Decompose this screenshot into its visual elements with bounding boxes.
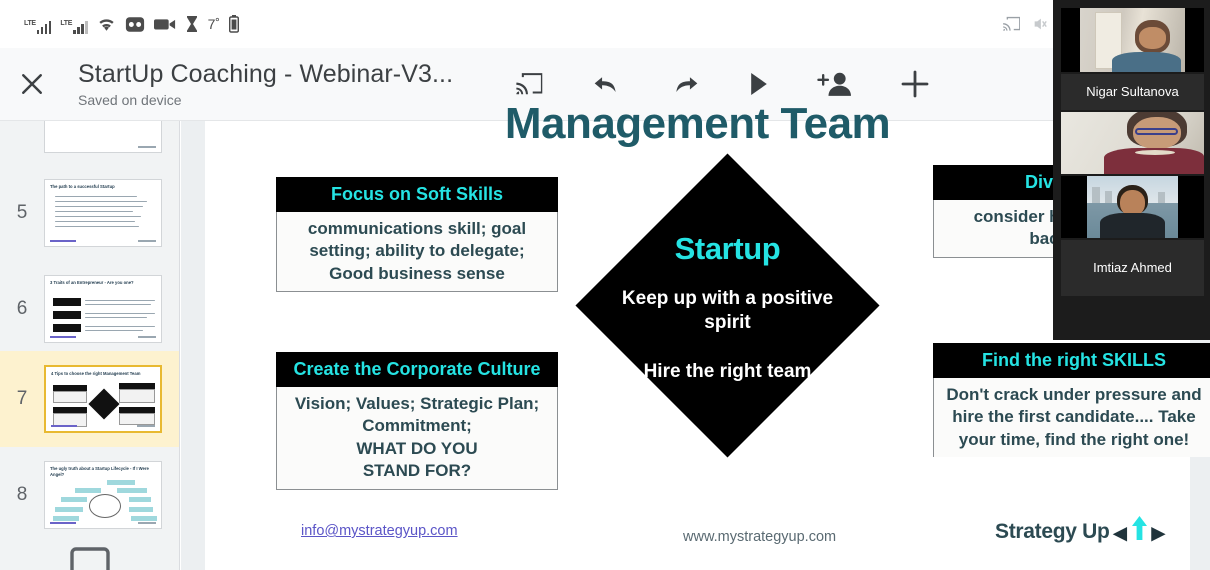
slide-filmstrip[interactable]: 19 Countries out of 195We are not alone!… — [0, 121, 180, 570]
lte-signal-icon: LTE — [24, 14, 51, 34]
list-item[interactable]: 7 4 Tips to choose the right Management … — [0, 351, 179, 447]
bracket-left-icon: ◂ — [1114, 519, 1127, 545]
status-bar: LTE LTE 7˚ — [0, 0, 1210, 48]
phone-layout-icon — [0, 537, 179, 570]
video-feed — [1080, 8, 1185, 72]
diamond-line-2: Hire the right team — [605, 360, 850, 384]
mute-icon — [1032, 16, 1048, 32]
card-heading: Find the right SKILLS — [933, 343, 1210, 378]
center-diamond-text: Startup Keep up with a positive spirit H… — [605, 231, 850, 384]
card-body: communications skill; goal setting; abil… — [276, 212, 558, 293]
video-camera-icon — [154, 17, 176, 31]
video-feed — [1087, 176, 1178, 238]
card-body: Don't crack under pressure and hire the … — [933, 378, 1210, 458]
diamond-line-1: Keep up with a positive spirit — [605, 287, 850, 336]
brand-label: Strategy Up — [995, 520, 1110, 544]
video-tile[interactable] — [1061, 176, 1204, 238]
redo-button[interactable] — [669, 71, 701, 97]
list-item[interactable]: 8 The ugly truth about a Startup Lifecyc… — [0, 447, 179, 537]
video-tile[interactable] — [1061, 112, 1204, 174]
thumbnail-title: The ugly truth about a Startup Lifecycle… — [50, 466, 156, 477]
list-item[interactable]: 6 3 Traits of an Entrepreneur - Are you … — [0, 255, 179, 351]
card-heading: Create the Corporate Culture — [276, 352, 558, 387]
battery-icon — [229, 15, 239, 33]
temperature-label: 7˚ — [208, 16, 220, 32]
thumbnail-title: 4 Tips to choose the right Management Te… — [51, 371, 155, 377]
slide-thumbnail[interactable]: 3 Traits of an Entrepreneur - Are you on… — [44, 275, 162, 343]
video-feed — [1061, 112, 1204, 174]
participant-name: Imtiaz Ahmed — [1061, 240, 1204, 296]
hourglass-icon — [185, 15, 199, 33]
card-body: Vision; Values; Strategic Plan; Commitme… — [276, 387, 558, 490]
brand-logo: Strategy Up ◂ ▸ — [995, 516, 1165, 547]
website-label: www.mystrategyup.com — [683, 529, 836, 545]
contact-email-link[interactable]: info@mystrategyup.com — [301, 523, 458, 539]
bracket-right-icon: ▸ — [1152, 519, 1165, 545]
card-create-corporate-culture[interactable]: Create the Corporate Culture Vision; Val… — [276, 352, 558, 490]
add-person-button[interactable] — [817, 71, 853, 97]
thumbnail-title: 3 Traits of an Entrepreneur - Are you on… — [50, 280, 156, 286]
lte-signal-icon: LTE — [60, 14, 87, 34]
current-slide[interactable]: Management Team Focus on Soft Skills com… — [205, 121, 1190, 570]
status-bar-left: LTE LTE 7˚ — [0, 14, 239, 34]
list-item[interactable]: 5 The path to a successful Startup — [0, 161, 179, 255]
list-item[interactable]: 19 Countries out of 195We are not alone! — [0, 121, 179, 161]
video-call-panel[interactable]: Nigar Sultanova Imtiaz Ahmed — [1053, 0, 1210, 340]
slide-thumbnail[interactable]: 4 Tips to choose the right Management Te… — [44, 365, 162, 433]
page-title: StartUp Coaching - Webinar-V3... — [78, 60, 453, 89]
plus-button[interactable] — [899, 68, 931, 100]
slide-number: 8 — [0, 484, 44, 506]
diamond-title: Startup — [605, 231, 850, 267]
slide-thumbnail[interactable]: The path to a successful Startup — [44, 179, 162, 247]
card-find-right-skills[interactable]: Find the right SKILLS Don't crack under … — [933, 343, 1210, 457]
slide-heading: Management Team — [205, 99, 1190, 149]
cast-button[interactable] — [515, 71, 545, 97]
slide-thumbnail[interactable]: 19 Countries out of 195We are not alone! — [44, 121, 162, 153]
slide-number: 5 — [0, 202, 44, 224]
toolbar — [515, 68, 931, 100]
wifi-icon — [97, 16, 116, 32]
present-button[interactable] — [747, 71, 771, 97]
slide-number: 7 — [0, 388, 44, 410]
participant-name: Nigar Sultanova — [1061, 74, 1204, 110]
close-icon[interactable] — [0, 70, 64, 98]
undo-button[interactable] — [591, 71, 623, 97]
slide-thumbnail[interactable]: The ugly truth about a Startup Lifecycle… — [44, 461, 162, 529]
headphones-icon — [125, 16, 145, 33]
thumbnail-title: The path to a successful Startup — [50, 184, 156, 190]
video-tile[interactable] — [1061, 8, 1204, 72]
card-focus-soft-skills[interactable]: Focus on Soft Skills communications skil… — [276, 177, 558, 292]
card-heading: Focus on Soft Skills — [276, 177, 558, 212]
cast-icon — [1002, 16, 1022, 32]
slide-number: 6 — [0, 298, 44, 320]
up-arrow-icon — [1131, 516, 1148, 547]
